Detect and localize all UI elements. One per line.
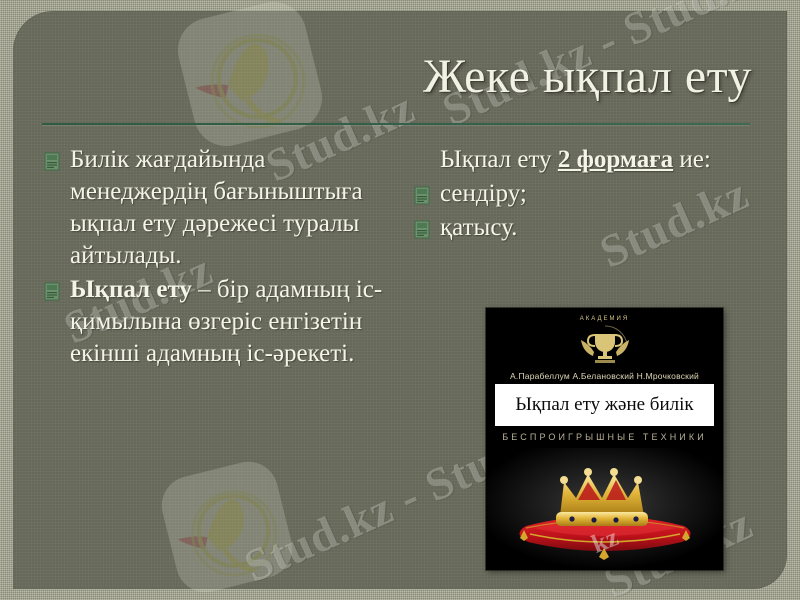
left-content-column: Билік жағдайында менеджердің бағыныштыға…: [44, 144, 404, 372]
list-item-label: Ықпал ету – бір адамның іс-қимылына өзге…: [70, 274, 404, 370]
book-title-box: Ықпал ету және билік: [495, 384, 714, 426]
list-item-label: сендіру;: [440, 178, 744, 210]
lead-emphasis: 2 формаға: [558, 146, 673, 173]
title-divider-rule: [42, 123, 750, 125]
book-title: Ықпал ету және билік: [515, 394, 693, 416]
book-subtitle: БЕСПРОИГРЫШНЫЕ ТЕХНИКИ: [486, 432, 723, 442]
list-item-label: Билік жағдайында менеджердің бағыныштыға…: [70, 144, 404, 272]
list-item: сендіру;: [414, 178, 744, 210]
book-authors: А.Парабеллум А.Белановский Н.Мрочковский: [486, 371, 723, 381]
list-item-bold-lead: Ықпал ету: [70, 276, 192, 303]
list-item: Ықпал ету – бір адамның іс-қимылына өзге…: [44, 274, 404, 370]
slide-canvas: Stud.kz Stud.kz - Stud.kz Stud.kz Stud.k…: [0, 0, 800, 600]
right-content-column: Ықпал ету 2 формаға ие: сендіру;: [414, 144, 744, 246]
list-item-label: қатысу.: [440, 212, 744, 244]
academy-trophy-emblem-icon: АКАДЕМИЯ: [569, 316, 641, 373]
document-bullet-icon: [414, 220, 434, 242]
document-bullet-icon: [44, 152, 64, 174]
list-item: Билік жағдайында менеджердің бағыныштыға…: [44, 144, 404, 272]
document-bullet-icon: [414, 186, 434, 208]
document-bullet-icon: [44, 282, 64, 304]
book-cover-image: АКАДЕМИЯ А.Парабеллум А.Белановский Н.Мр…: [486, 308, 723, 570]
lead-prefix: Ықпал ету: [440, 146, 558, 173]
slide-title: Жеке ықпал ету: [28, 52, 752, 102]
lead-suffix: ие:: [673, 146, 711, 173]
list-item: қатысу.: [414, 212, 744, 244]
right-column-lead: Ықпал ету 2 формаға ие:: [414, 144, 744, 176]
